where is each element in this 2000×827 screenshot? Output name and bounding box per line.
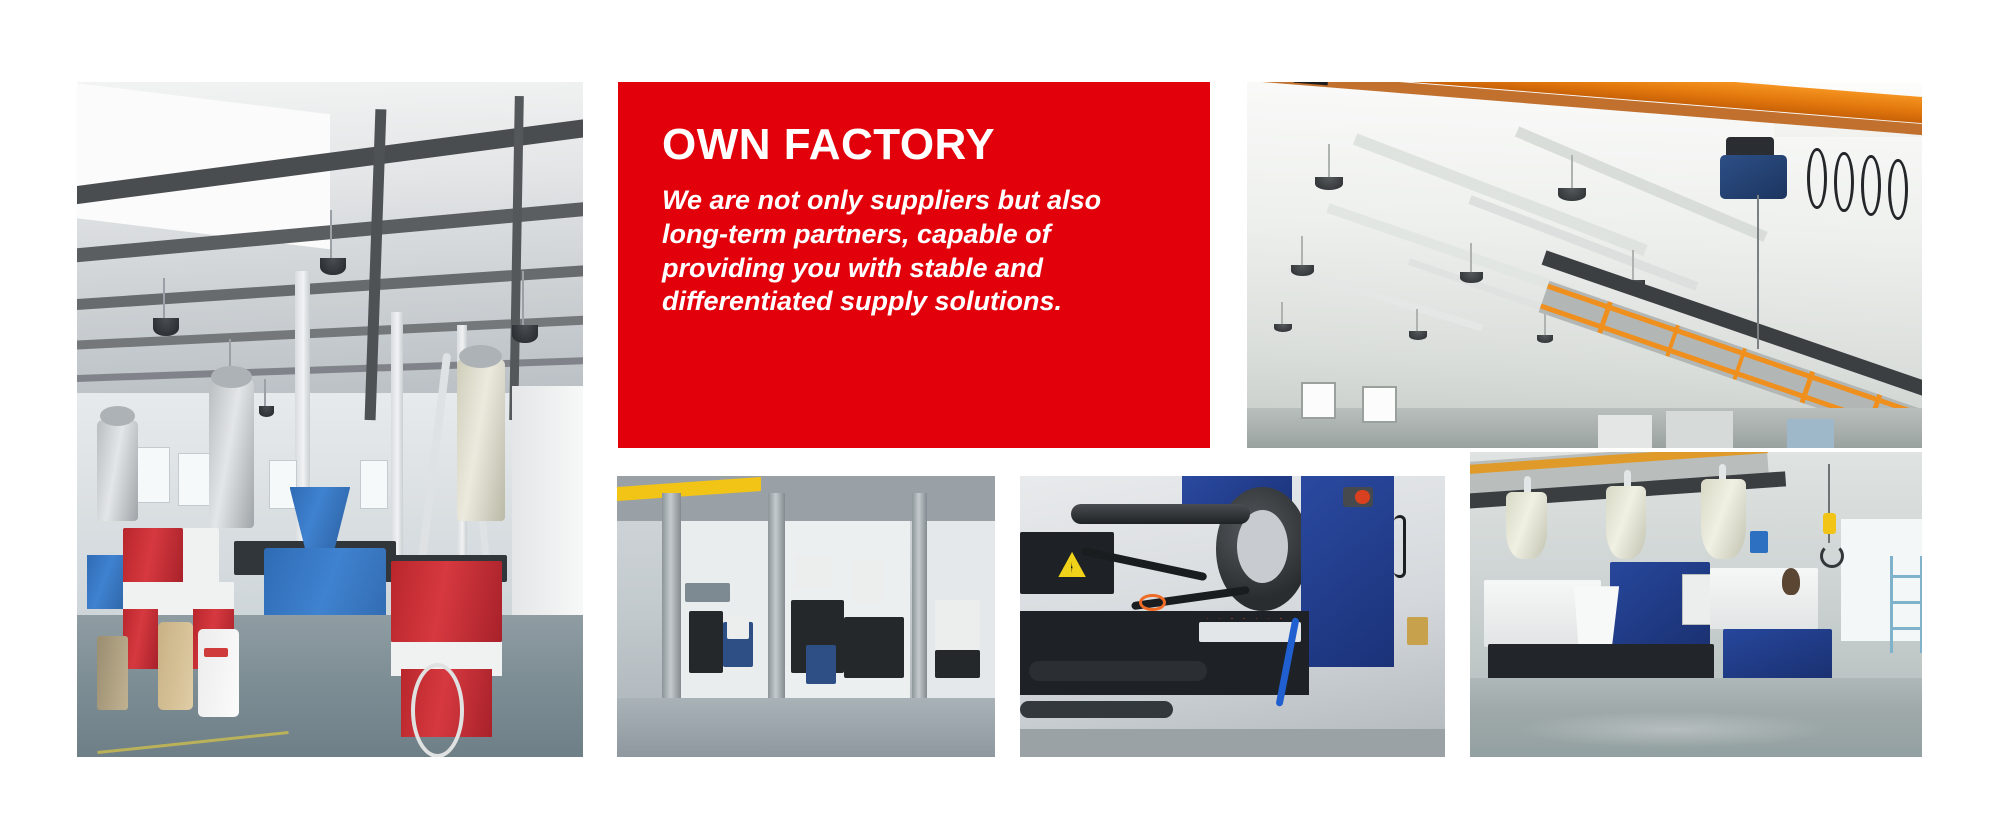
- promo-panel: OWN FACTORY We are not only suppliers bu…: [618, 82, 1210, 448]
- photo-injection-machine-closeup[interactable]: [1020, 476, 1445, 757]
- injection-machine-scene: [1020, 476, 1445, 757]
- promo-body: We are not only suppliers but also long-…: [662, 184, 1166, 319]
- photo-molding-shop[interactable]: [1470, 452, 1922, 757]
- photo-crane-hall[interactable]: [1247, 82, 1922, 448]
- crane-hall-scene: [1247, 82, 1922, 448]
- emergency-stop-icon: [1343, 487, 1373, 507]
- molding-shop-scene: [1470, 452, 1922, 757]
- crane-hoist-icon: [1720, 155, 1788, 199]
- machine-workshop-scene: [617, 476, 995, 757]
- extrusion-hall-scene: [77, 82, 583, 757]
- promo-headline: OWN FACTORY: [662, 122, 1166, 168]
- factory-gallery-banner: OWN FACTORY We are not only suppliers bu…: [0, 0, 2000, 827]
- photo-extrusion-hall[interactable]: [77, 82, 583, 757]
- photo-machine-workshop[interactable]: [617, 476, 995, 757]
